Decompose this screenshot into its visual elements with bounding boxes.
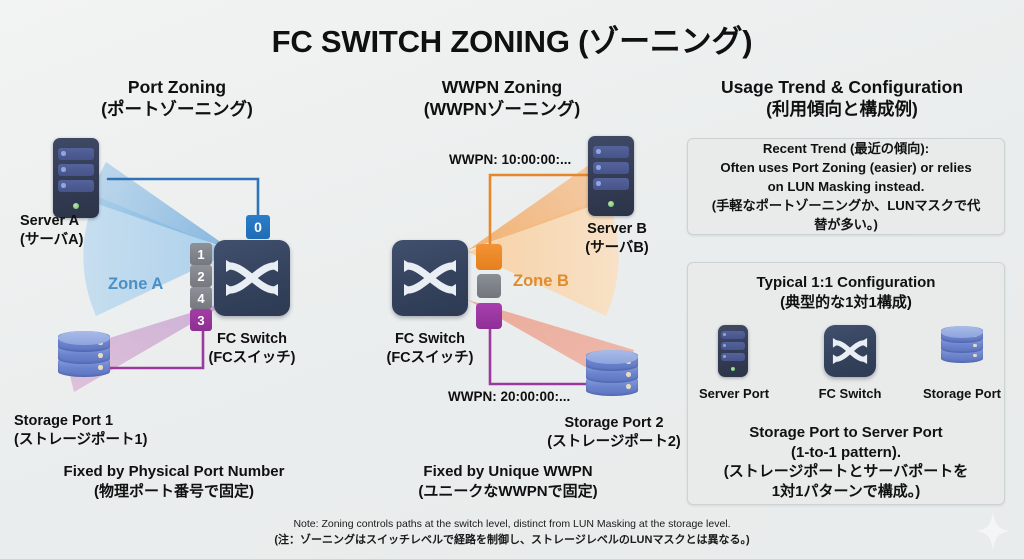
port-chip-1[interactable]: 1 xyxy=(190,243,212,265)
server-bay xyxy=(721,353,744,361)
port-chip-4[interactable]: 4 xyxy=(190,287,212,309)
mini-storage-port-icon xyxy=(941,326,983,376)
fc-switch-crossarrows-icon xyxy=(824,325,876,377)
server-power-led xyxy=(731,367,735,371)
footer-note: Note: Zoning controls paths at the switc… xyxy=(0,516,1024,549)
server-bay xyxy=(58,164,94,176)
server-bay xyxy=(593,162,629,174)
column-heading-wwpn-zoning-jp: (WWPNゾーニング) xyxy=(352,98,652,120)
server-a-icon xyxy=(53,138,99,218)
typical-config-title: Typical 1:1 Configuration (典型的な1対1構成) xyxy=(688,273,1004,312)
server-bay xyxy=(721,331,744,339)
wwpn-server-b-label: WWPN: 10:00:00:... xyxy=(449,152,571,167)
column-heading-usage-jp: (利用傾向と構成例) xyxy=(672,98,1012,120)
column-heading-port-zoning: Port Zoning (ポートゾーニング) xyxy=(32,76,322,121)
storage-port-1-label-jp: (ストレージポート1) xyxy=(14,431,204,450)
port-chip-3[interactable]: 3 xyxy=(190,309,212,331)
wwpn-zoning-footer-en: Fixed by Unique WWPN xyxy=(348,462,668,482)
storage-port-1-label: Storage Port 1 (ストレージポート1) xyxy=(14,412,204,450)
mini-fc-switch-icon xyxy=(824,325,876,377)
server-bay xyxy=(593,178,629,190)
column-heading-usage-en: Usage Trend & Configuration xyxy=(672,76,1012,98)
port-zoning-footer-en: Fixed by Physical Port Number xyxy=(14,462,334,482)
fc-switch-label-en: FC Switch xyxy=(192,330,312,349)
diagram-canvas: FC SWITCH ZONING (ゾーニング) Port Zoning (ポー… xyxy=(0,0,1024,559)
storage-disk-led xyxy=(973,344,977,348)
storage-port-2-icon xyxy=(586,350,638,412)
storage-port-2-label-en: Storage Port 2 xyxy=(524,414,704,433)
typical-config-desc-3: (ストレージポートとサーバポートを xyxy=(691,462,1001,482)
server-b-icon xyxy=(588,136,634,216)
server-a-label-jp: (サーバA) xyxy=(20,231,140,250)
recent-trend-card: Recent Trend (最近の傾向): Often uses Port Zo… xyxy=(687,138,1005,235)
fc-switch-label-wwpn-zoning: FC Switch (FCスイッチ) xyxy=(370,330,490,368)
fc-switch-label-jp: (FCスイッチ) xyxy=(192,349,312,368)
port-zoning-footer-jp: (物理ポート番号で固定) xyxy=(14,482,334,502)
server-bay-led xyxy=(61,183,66,188)
server-bay-led xyxy=(723,355,726,358)
server-bay xyxy=(593,146,629,158)
storage-port-2-label-jp: (ストレージポート2) xyxy=(524,433,704,452)
recent-trend-text: Recent Trend (最近の傾向): Often uses Port Zo… xyxy=(704,139,989,234)
recent-trend-line-4: (手軽なポートゾーニングか、LUNマスクで代 xyxy=(712,196,981,215)
storage-disk-led xyxy=(626,384,631,389)
mini-server-port-icon xyxy=(718,325,748,377)
fc-switch-port-zoning xyxy=(214,240,290,316)
server-a-label: Server A (サーバA) xyxy=(20,212,140,250)
storage-port-1-icon xyxy=(58,331,110,393)
typical-config-desc-1: Storage Port to Server Port xyxy=(691,423,1001,443)
storage-port-2-label: Storage Port 2 (ストレージポート2) xyxy=(524,414,704,452)
recent-trend-line-1: Recent Trend (最近の傾向): xyxy=(712,139,981,158)
storage-disk-led xyxy=(626,372,631,377)
port-chip-0[interactable]: 0 xyxy=(246,215,270,239)
zone-a-tag: Zone A xyxy=(108,275,163,294)
fc-switch-label-en: FC Switch xyxy=(370,330,490,349)
column-heading-port-zoning-en: Port Zoning xyxy=(32,76,322,98)
column-heading-port-zoning-jp: (ポートゾーニング) xyxy=(32,98,322,120)
server-bay-led xyxy=(723,333,726,336)
footer-note-en: Note: Zoning controls paths at the switc… xyxy=(0,516,1024,532)
mini-storage-port-label: Storage Port xyxy=(918,386,1006,401)
server-b-label-en: Server B xyxy=(562,220,672,239)
server-bay-led xyxy=(596,149,601,154)
fc-switch-label-port-zoning: FC Switch (FCスイッチ) xyxy=(192,330,312,368)
zone-b-tag: Zone B xyxy=(513,272,569,291)
typical-config-desc-4: 1対1パターンで構成。) xyxy=(691,482,1001,502)
port-zoning-footer: Fixed by Physical Port Number (物理ポート番号で固… xyxy=(14,462,334,501)
port-chip-2[interactable]: 2 xyxy=(190,265,212,287)
recent-trend-line-2: Often uses Port Zoning (easier) or relie… xyxy=(712,158,981,177)
recent-trend-line-3: on LUN Masking instead. xyxy=(712,177,981,196)
typical-config-title-jp: (典型的な1対1構成) xyxy=(688,293,1004,313)
server-bay-led xyxy=(61,151,66,156)
wwpn-storage-port-2-label: WWPN: 20:00:00:... xyxy=(448,389,570,404)
sparkle-watermark-icon xyxy=(976,511,1010,551)
storage-disk-led xyxy=(973,354,977,358)
fc-switch-crossarrows-icon xyxy=(392,240,468,316)
server-power-led xyxy=(608,201,614,207)
wwpn-zoning-footer: Fixed by Unique WWPN (ユニークなWWPNで固定) xyxy=(348,462,668,501)
fc-switch-wwpn-zoning xyxy=(392,240,468,316)
typical-config-desc-2: (1-to-1 pattern). xyxy=(691,443,1001,463)
server-b-label-jp: (サーバB) xyxy=(562,239,672,258)
server-bay xyxy=(58,148,94,160)
storage-disk-top xyxy=(941,326,983,338)
mini-fc-switch-label: FC Switch xyxy=(812,386,888,401)
wwpn-port-square-orange[interactable] xyxy=(476,244,502,270)
server-bay xyxy=(721,342,744,350)
storage-disk-led xyxy=(98,365,103,370)
mini-server-port-label: Server Port xyxy=(694,386,774,401)
storage-disk-led xyxy=(98,353,103,358)
recent-trend-line-5: 替が多い。) xyxy=(712,215,981,234)
column-heading-usage: Usage Trend & Configuration (利用傾向と構成例) xyxy=(672,76,1012,121)
server-b-label: Server B (サーバB) xyxy=(562,220,672,258)
server-bay-led xyxy=(723,344,726,347)
footer-note-jp: (注：ゾーニングはスイッチレベルで経路を制御し、ストレージレベルのLUNマスクと… xyxy=(0,532,1024,549)
wwpn-port-square-gray[interactable] xyxy=(477,274,501,298)
wwpn-zoning-footer-jp: (ユニークなWWPNで固定) xyxy=(348,482,668,502)
server-bay-led xyxy=(61,167,66,172)
server-bay-led xyxy=(596,181,601,186)
page-title: FC SWITCH ZONING (ゾーニング) xyxy=(0,16,1024,61)
wwpn-port-square-purple[interactable] xyxy=(476,303,502,329)
server-bay-led xyxy=(596,165,601,170)
server-a-label-en: Server A xyxy=(20,212,140,231)
column-heading-wwpn-zoning-en: WWPN Zoning xyxy=(352,76,652,98)
column-heading-wwpn-zoning: WWPN Zoning (WWPNゾーニング) xyxy=(352,76,652,121)
storage-port-1-label-en: Storage Port 1 xyxy=(14,412,204,431)
server-power-led xyxy=(73,203,79,209)
fc-switch-crossarrows-icon xyxy=(214,240,290,316)
server-bay xyxy=(58,180,94,192)
typical-config-title-en: Typical 1:1 Configuration xyxy=(688,273,1004,293)
typical-config-description: Storage Port to Server Port (1-to-1 patt… xyxy=(691,423,1001,501)
fc-switch-label-jp: (FCスイッチ) xyxy=(370,349,490,368)
